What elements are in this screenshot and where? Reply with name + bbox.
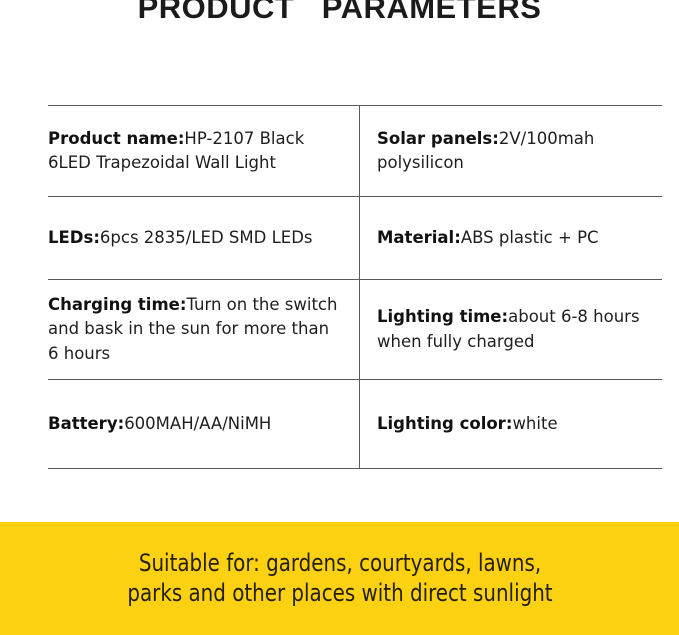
spec-label: Charging time [48,295,180,314]
spec-label: Solar panels [377,129,492,148]
usage-banner: Suitable for: gardens, courtyards, lawns… [0,522,679,635]
spec-entry: Material:ABS plastic + PC [377,226,662,250]
table-cell-lighting-color: Lighting color:white [360,380,663,469]
table-cell-material: Material:ABS plastic + PC [360,197,663,280]
page-title-container: PRODUCT PARAMETERS [0,0,679,46]
spec-value: ABS plastic + PC [461,228,599,247]
spec-label: Lighting color [377,414,506,433]
table-cell-leds: LEDs:6pcs 2835/LED SMD LEDs [48,197,360,280]
spec-entry: Lighting color:white [377,412,662,436]
spec-separator: : [492,129,499,148]
spec-entry: Lighting time:about 6-8 hours when fully… [377,305,662,354]
table-row: Charging time:Turn on the switch and bas… [48,280,662,380]
table-row: LEDs:6pcs 2835/LED SMD LEDs Material:ABS… [48,197,662,280]
spec-separator: : [454,228,461,247]
table-cell-battery: Battery:600MAH/AA/NiMH [48,380,360,469]
usage-banner-text: Suitable for: gardens, courtyards, lawns… [64,549,616,608]
spec-label: Battery [48,414,118,433]
spec-entry: Solar panels:2V/100mah polysilicon [377,127,662,176]
spec-separator: : [93,228,100,247]
spec-label: Product name [48,129,178,148]
spec-entry: Charging time:Turn on the switch and bas… [48,293,341,366]
table-cell-product-name: Product name:HP-2107 Black 6LED Trapezoi… [48,106,360,197]
table-cell-solar-panels: Solar panels:2V/100mah polysilicon [360,106,663,197]
spec-label: Material [377,228,454,247]
spec-label: LEDs [48,228,93,247]
spec-value: 6pcs 2835/LED SMD LEDs [100,228,313,247]
spec-value: 600MAH/AA/NiMH [124,414,271,433]
spec-label: Lighting time [377,307,502,326]
table-row: Battery:600MAH/AA/NiMH Lighting color:wh… [48,380,662,469]
table-cell-lighting-time: Lighting time:about 6-8 hours when fully… [360,280,663,380]
spec-entry: Battery:600MAH/AA/NiMH [48,412,341,436]
table-row: Product name:HP-2107 Black 6LED Trapezoi… [48,106,662,197]
spec-value: white [512,414,557,433]
product-parameters-table: Product name:HP-2107 Black 6LED Trapezoi… [48,105,662,469]
table-cell-charging-time: Charging time:Turn on the switch and bas… [48,280,360,380]
spec-entry: LEDs:6pcs 2835/LED SMD LEDs [48,226,341,250]
page-title: PRODUCT PARAMETERS [0,0,679,26]
spec-entry: Product name:HP-2107 Black 6LED Trapezoi… [48,127,341,176]
